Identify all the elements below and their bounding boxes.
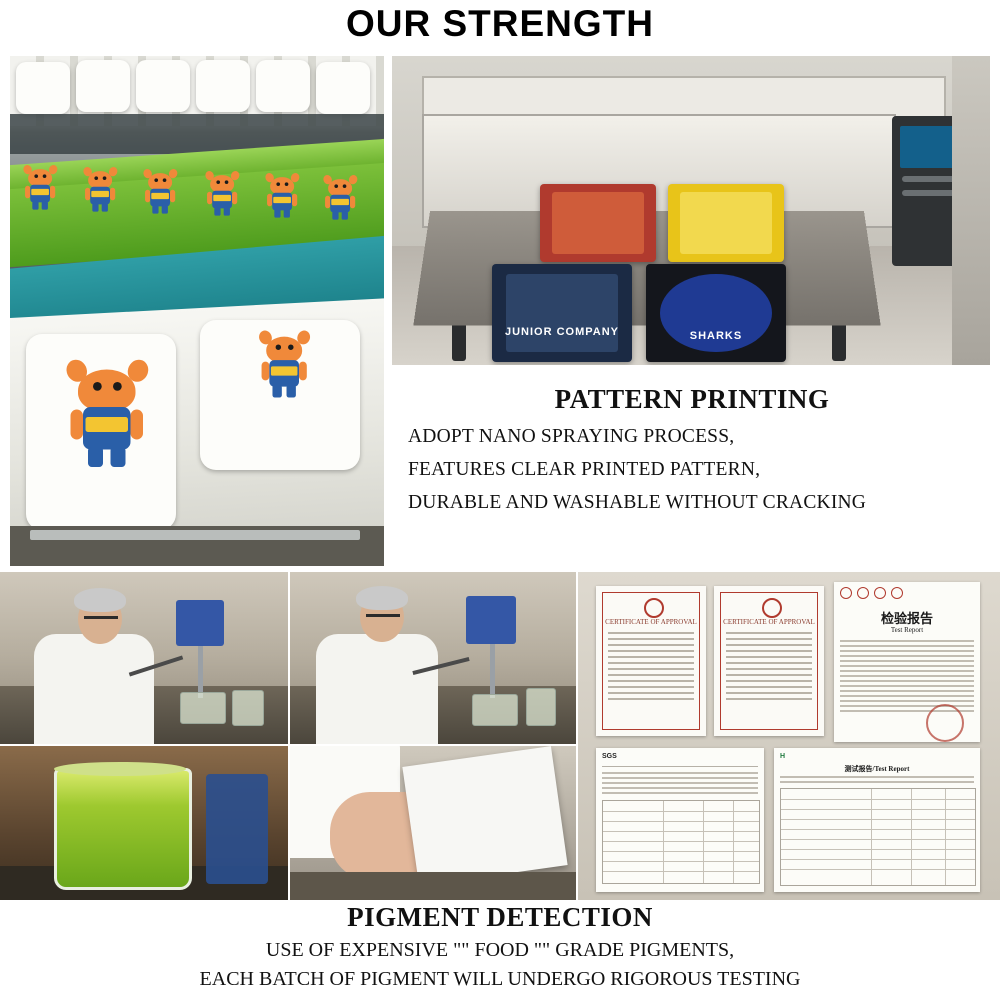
sample-jar [472, 694, 518, 726]
printed-fabric-sample [402, 746, 567, 886]
pattern-printing-text-block: PATTERN PRINTING ADOPT NANO SPRAYING PRO… [392, 370, 992, 566]
dtg-printer-photo: JUNIOR COMPANY SHARKS [392, 56, 990, 365]
lab-technician-photo-1 [0, 572, 288, 744]
tee-label: SHARKS [646, 330, 786, 342]
pigment-line-2: EACH BATCH OF PIGMENT WILL UNDERGO RIGOR… [0, 968, 1000, 991]
fabric-hand-test-photo [290, 746, 576, 900]
h-report-card: H 测试报告/Test Report [774, 748, 980, 892]
technician-hair [356, 586, 408, 610]
pattern-line-1: ADOPT NANO SPRAYING PROCESS, [392, 426, 992, 448]
squeegee-bar [30, 530, 360, 540]
sample-jar [180, 692, 226, 724]
shirt-on-rack [136, 60, 190, 112]
page-title: OUR STRENGTH [0, 0, 1000, 48]
panel-slot [902, 176, 958, 182]
pattern-heading: PATTERN PRINTING [392, 384, 992, 415]
sgs-results-table [602, 800, 760, 884]
technician-hair [74, 588, 126, 612]
tee-label: JUNIOR COMPANY [492, 326, 632, 338]
pigment-beaker [54, 768, 192, 890]
lab-mixer [176, 600, 224, 646]
screen-printing-line-photo [10, 56, 384, 566]
pattern-line-3: DURABLE AND WASHABLE WITHOUT CRACKING [392, 492, 992, 514]
accreditation-logos [840, 587, 903, 599]
seal-icon [644, 598, 664, 618]
safety-glasses [84, 616, 118, 619]
test-report-card: 检验报告 Test Report [834, 582, 980, 742]
pigment-heading: PIGMENT DETECTION [0, 902, 1000, 933]
certificate-title: CERTIFICATE OF APPROVAL [596, 618, 706, 626]
stamp-icon [926, 704, 964, 742]
sgs-report-card: SGS [596, 748, 764, 892]
safety-glasses [366, 614, 400, 617]
mixer-shaft [490, 644, 495, 698]
certificate-card: CERTIFICATE OF APPROVAL [596, 586, 706, 736]
blue-equipment [206, 774, 268, 884]
h-logo: H [780, 753, 785, 760]
printed-tee: SHARKS [646, 264, 786, 362]
report-title-en: Test Report [834, 626, 980, 634]
green-pigment-beaker-photo [0, 746, 288, 900]
lab-coat [34, 634, 154, 744]
certificates-and-test-reports-photo: CERTIFICATE OF APPROVAL CERTIFICATE OF A… [578, 572, 1000, 900]
printed-tee [668, 184, 784, 262]
panel-slot [902, 190, 958, 196]
sgs-logo: SGS [602, 753, 617, 760]
pigment-line-1: USE OF EXPENSIVE "" FOOD "" GRADE PIGMEN… [0, 939, 1000, 962]
certificate-title: CERTIFICATE OF APPROVAL [714, 618, 824, 626]
certificate-card: CERTIFICATE OF APPROVAL [714, 586, 824, 736]
shirt-on-rack [16, 62, 70, 114]
shirt-on-rack [256, 60, 310, 112]
shirt-on-rack [316, 62, 370, 114]
pattern-line-2: FEATURES CLEAR PRINTED PATTERN, [392, 459, 992, 481]
seal-icon [762, 598, 782, 618]
workshop-right-edge [952, 56, 990, 365]
sample-jar [526, 688, 556, 726]
report-title-cn: 检验报告 [834, 608, 980, 627]
printed-tee [540, 184, 656, 262]
h-report-title: 测试报告/Test Report [774, 764, 980, 774]
lab-coat [316, 634, 438, 744]
h-results-table [780, 788, 976, 886]
fabric-table-edge [290, 872, 576, 900]
printed-tee: JUNIOR COMPANY [492, 264, 632, 362]
mixer-shaft [198, 646, 203, 698]
pigment-detection-text-block: PIGMENT DETECTION USE OF EXPENSIVE "" FO… [0, 900, 1000, 1000]
sample-jar [232, 690, 264, 726]
shirt-on-rack [76, 60, 130, 112]
printer-screen[interactable] [900, 126, 960, 168]
shirt-on-rack [196, 60, 250, 112]
lab-mixer [466, 596, 516, 644]
lab-technician-photo-2 [290, 572, 576, 744]
beaker-rim [54, 762, 186, 776]
poster-root: OUR STRENGTH [0, 0, 1000, 1000]
